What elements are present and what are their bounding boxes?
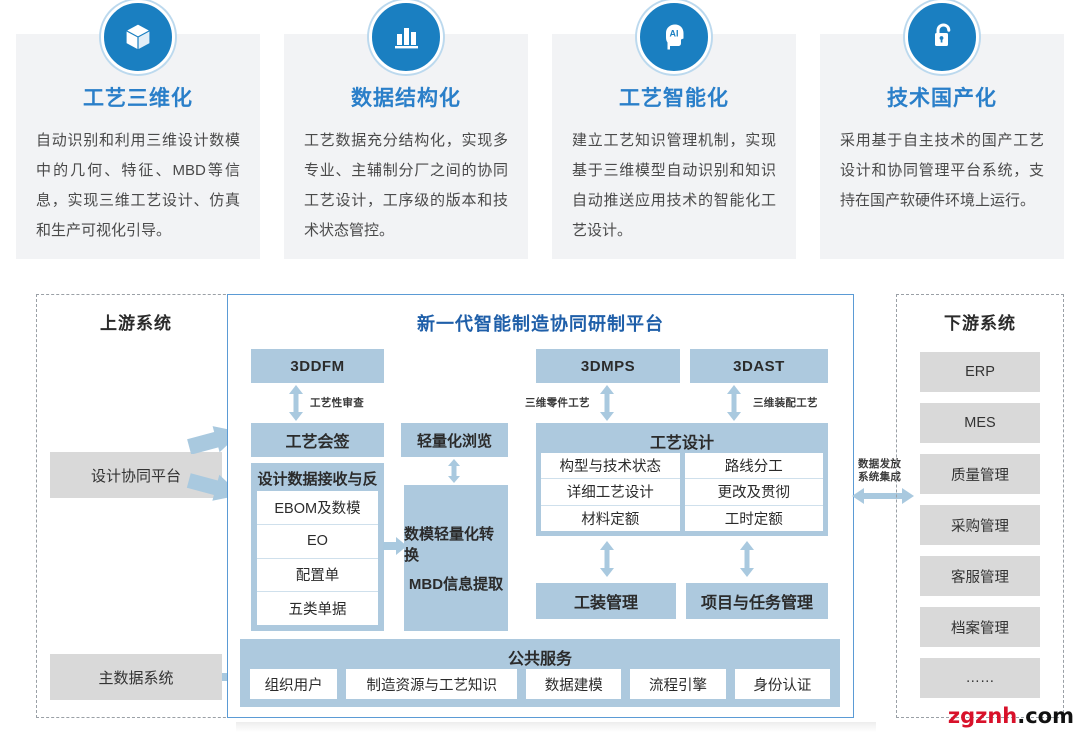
arrow-3dast-design [725,385,743,421]
label-craft-review: 工艺性审查 [310,395,364,410]
integration-label-line2: 系统集成 [858,471,901,484]
feature-cards: 工艺三维化 自动识别和利用三维设计数模中的几何、特征、MBD等信息，实现三维工艺… [0,0,1080,278]
panel-design-data-receive: 设计数据接收与反馈 EBOM及数模 EO 配置单 五类单据 [251,463,384,631]
downstream-title: 下游系统 [897,309,1063,334]
downstream-item-more[interactable]: …… [920,658,1040,698]
downstream-item-purchase[interactable]: 采购管理 [920,505,1040,545]
cell-material-quota[interactable]: 材料定额 [541,506,680,531]
downstream-item-quality[interactable]: 质量管理 [920,454,1040,494]
feature-card: 数据结构化 工艺数据充分结构化，实现多专业、主辅制分厂之间的协同工艺设计，工序级… [284,34,528,259]
convert-line-2: MBD信息提取 [409,573,503,594]
watermark-black: .com [1017,704,1074,728]
arrow-browse-convert [446,459,462,483]
downstream-item-erp[interactable]: ERP [920,352,1040,392]
arrow-3ddfm-sign [287,385,305,421]
cell-configuration-state[interactable]: 构型与技术状态 [541,453,680,479]
svg-text:AI: AI [670,29,679,39]
service-process-engine[interactable]: 流程引擎 [630,669,725,699]
downstream-item-archive[interactable]: 档案管理 [920,607,1040,647]
service-org-user[interactable]: 组织用户 [250,669,337,699]
card-title: 工艺智能化 [572,82,776,112]
label-data-release-integration: 数据发放 系统集成 [858,458,901,484]
card-title: 工艺三维化 [36,82,240,112]
cell-labor-quota[interactable]: 工时定额 [685,506,824,531]
diagram-shadow [236,722,876,732]
card-title: 数据结构化 [304,82,508,112]
feature-card: 技术国产化 采用基于自主技术的国产工艺设计和协同管理平台系统，支持在国产软硬件环… [820,34,1064,259]
panel-process-design: 工艺设计 构型与技术状态 详细工艺设计 材料定额 路线分工 更改及贯彻 工时定额 [536,423,828,536]
cube-icon [101,0,175,74]
feature-card: AI 工艺智能化 建立工艺知识管理机制，实现基于三维模型自动识别和知识自动推送应… [552,34,796,259]
ai-head-icon: AI [637,0,711,74]
cell-route-division[interactable]: 路线分工 [685,453,824,479]
cell-config-list[interactable]: 配置单 [257,559,378,593]
downstream-item-mes[interactable]: MES [920,403,1040,443]
card-description: 建立工艺知识管理机制，实现基于三维模型自动识别和知识自动推送应用技术的智能化工艺… [572,126,776,246]
card-description: 自动识别和利用三维设计数模中的几何、特征、MBD等信息，实现三维工艺设计、仿真和… [36,126,240,246]
service-identity-auth[interactable]: 身份认证 [735,669,830,699]
cell-eo[interactable]: EO [257,525,378,559]
module-model-convert[interactable]: 数模轻量化转换 MBD信息提取 [404,485,508,631]
card-description: 工艺数据充分结构化，实现多专业、主辅制分厂之间的协同工艺设计，工序级的版本和技术… [304,126,508,246]
feature-card: 工艺三维化 自动识别和利用三维设计数模中的几何、特征、MBD等信息，实现三维工艺… [16,34,260,259]
upstream-item-master-data[interactable]: 主数据系统 [50,654,222,700]
module-3ddfm[interactable]: 3DDFM [251,349,384,383]
service-data-modeling[interactable]: 数据建模 [526,669,621,699]
arrow-design-project [738,541,756,577]
module-tooling-management[interactable]: 工装管理 [536,583,676,619]
card-description: 采用基于自主技术的国产工艺设计和协同管理平台系统，支持在国产软硬件环境上运行。 [840,126,1044,216]
unlock-icon [905,0,979,74]
watermark: zgznh.com [948,704,1074,728]
module-3dast[interactable]: 3DAST [690,349,828,383]
service-mfg-resource-knowledge[interactable]: 制造资源与工艺知识 [346,669,517,699]
public-service-head: 公共服务 [240,639,840,673]
card-title: 技术国产化 [840,82,1044,112]
cell-change-implementation[interactable]: 更改及贯彻 [685,479,824,505]
arrow-3dmps-design [598,385,616,421]
upstream-title: 上游系统 [37,309,235,334]
platform-title: 新一代智能制造协同研制平台 [228,310,853,336]
convert-line-1: 数模轻量化转换 [404,523,508,565]
panel-public-service: 公共服务 组织用户 制造资源与工艺知识 数据建模 流程引擎 身份认证 [240,639,840,707]
watermark-red: zgznh [948,704,1017,728]
platform-panel: 新一代智能制造协同研制平台 3DDFM 3DMPS 3DAST 工艺性审查 三维… [227,294,854,718]
bar-chart-icon [369,0,443,74]
cell-detailed-process-design[interactable]: 详细工艺设计 [541,479,680,505]
architecture-diagram: 上游系统 设计协同平台 主数据系统 新一代智能制造协同研制平台 3DDFM 3D… [0,286,1080,732]
label-3d-part-process: 三维零件工艺 [525,395,590,410]
cell-five-docs[interactable]: 五类单据 [257,592,378,625]
arrow-design-tooling [598,541,616,577]
label-3d-assembly-process: 三维装配工艺 [753,395,818,410]
module-project-task-management[interactable]: 项目与任务管理 [686,583,828,619]
module-craft-sign[interactable]: 工艺会签 [251,423,384,457]
downstream-item-customer-service[interactable]: 客服管理 [920,556,1040,596]
cell-ebom[interactable]: EBOM及数模 [257,491,378,525]
module-light-browse[interactable]: 轻量化浏览 [401,423,508,457]
integration-label-line1: 数据发放 [858,458,901,471]
module-3dmps[interactable]: 3DMPS [536,349,680,383]
